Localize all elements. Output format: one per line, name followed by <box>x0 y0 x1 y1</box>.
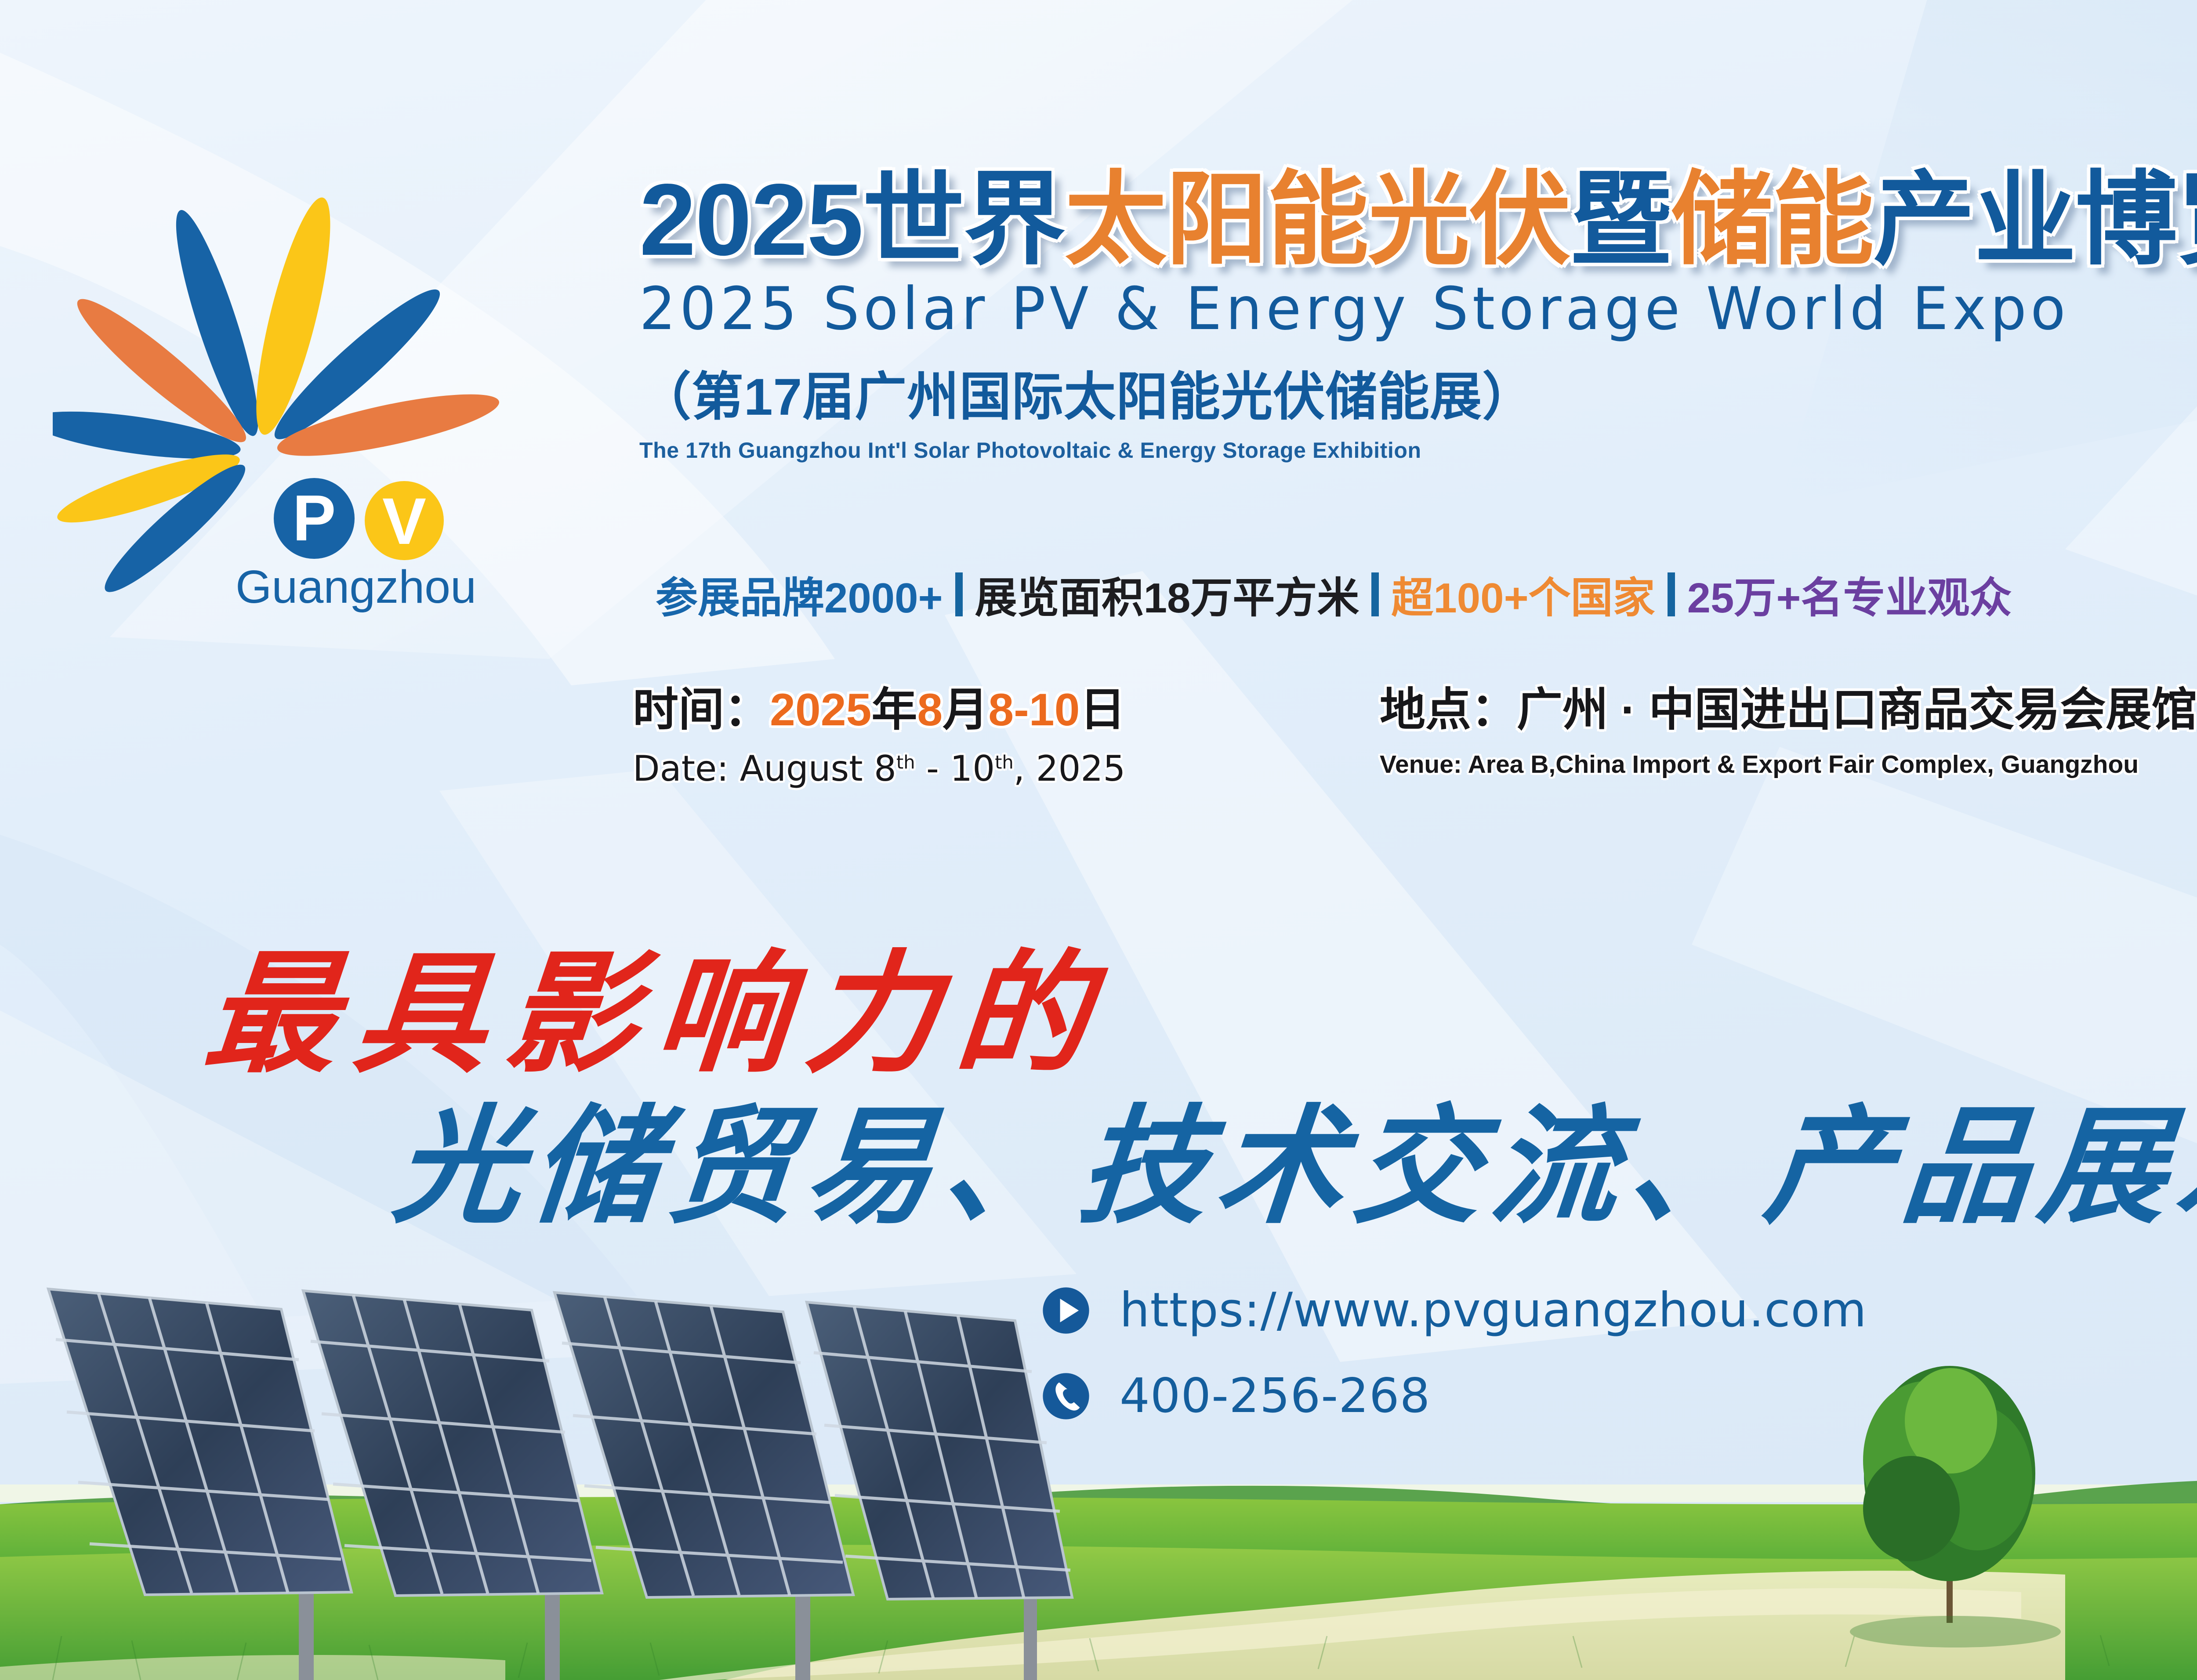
slogan-line-2: 光储贸易、技术交流、产品展示平台！ <box>388 1063 2197 1248</box>
stat-separator <box>955 572 963 616</box>
phone-row[interactable]: 400-256-268 <box>1041 1369 1867 1423</box>
date-line-en: Date: August 8th - 10th, 2025 <box>633 748 1380 789</box>
subtitle-cn: （第17届广州国际太阳能光伏储能展） <box>639 355 2197 430</box>
stat-separator <box>1371 572 1379 616</box>
date-day-suffix: 日 <box>1080 684 1125 735</box>
logo-city-label: Guangzhou <box>236 561 476 613</box>
pv-guangzhou-logo: P V Guangzhou <box>53 171 602 619</box>
headline-block: 2025世界太阳能光伏暨储能产业博览会 2025 Solar PV & Ener… <box>639 169 2197 463</box>
date-days: 8-10 <box>988 684 1080 735</box>
date-en-mid: - 10 <box>915 748 995 789</box>
stat-item-countries: 超100+个国家 <box>1391 564 1655 625</box>
date-en-head: Date: August 8 <box>633 748 896 789</box>
title-part-1: 太阳能光伏 <box>1065 163 1570 277</box>
venue-line-en: Venue: Area B,China Import & Export Fair… <box>1380 750 2197 779</box>
title-part-4: 产业博览会 <box>1873 163 2197 277</box>
venue-column: 地点：广州 · 中国进出口商品交易会展馆B区 Venue: Area B,Chi… <box>1380 672 2197 789</box>
date-year-suffix: 年 <box>871 684 917 735</box>
subtitle-en: The 17th Guangzhou Int'l Solar Photovolt… <box>639 438 2197 463</box>
date-en-sup2: th <box>995 751 1014 773</box>
contact-block: https://www.pvguangzhou.com 400-256-268 <box>1041 1283 1867 1423</box>
date-en-tail: , 2025 <box>1014 748 1125 789</box>
play-circle-icon <box>1041 1286 1091 1335</box>
title-part-0: 2025世界 <box>639 163 1065 277</box>
phone-circle-icon <box>1041 1372 1091 1421</box>
date-year: 2025 <box>770 684 871 735</box>
venue-line-cn: 地点：广州 · 中国进出口商品交易会展馆B区 <box>1380 672 2197 739</box>
date-column: 时间：2025年8月8-10日 Date: August 8th - 10th,… <box>633 672 1380 789</box>
date-line-cn: 时间：2025年8月8-10日 <box>633 672 1380 739</box>
stats-strip: 参展品牌2000+ 展览面积18万平方米 超100+个国家 25万+名专业观众 <box>656 564 2012 625</box>
venue-value: 广州 · 中国进出口商品交易会展馆B区 <box>1517 684 2197 735</box>
stat-item-visitors: 25万+名专业观众 <box>1687 564 2012 625</box>
date-en-sup1: th <box>896 751 915 773</box>
date-venue-block: 时间：2025年8月8-10日 Date: August 8th - 10th,… <box>633 672 2197 789</box>
date-month: 8 <box>917 684 943 735</box>
logo-letter-v: V <box>382 484 426 558</box>
title-part-2: 暨 <box>1570 163 1671 277</box>
main-title-en: 2025 Solar PV & Energy Storage World Exp… <box>639 275 2197 343</box>
main-title-cn: 2025世界太阳能光伏暨储能产业博览会 <box>639 169 2197 271</box>
stat-separator <box>1668 572 1675 616</box>
venue-label: 地点： <box>1380 684 1517 735</box>
website-row[interactable]: https://www.pvguangzhou.com <box>1041 1283 1867 1338</box>
phone-number[interactable]: 400-256-268 <box>1120 1369 1430 1423</box>
logo-pv-badges: P V <box>274 478 444 560</box>
date-label: 时间： <box>633 684 770 735</box>
date-month-suffix: 月 <box>943 684 988 735</box>
stat-item-area: 展览面积18万平方米 <box>975 564 1360 625</box>
title-part-3: 储能 <box>1671 163 1873 277</box>
website-link[interactable]: https://www.pvguangzhou.com <box>1120 1283 1867 1338</box>
stat-item-brands: 参展品牌2000+ <box>656 564 943 625</box>
logo-letter-p: P <box>293 482 336 554</box>
